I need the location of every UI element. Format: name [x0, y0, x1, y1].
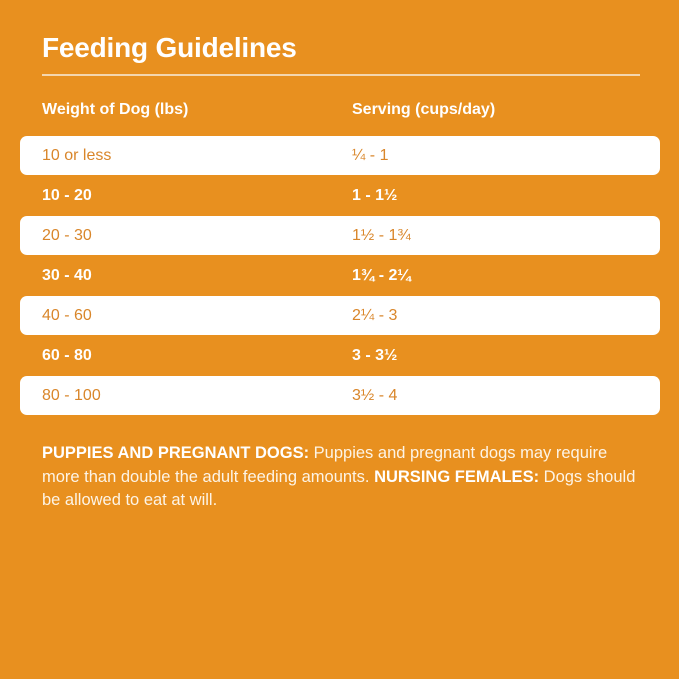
cell-serving: 1 - 1½ — [352, 176, 397, 215]
cell-weight: 10 or less — [42, 136, 111, 175]
feeding-table: 10 or less ¼ - 1 10 - 20 1 - 1½ 20 - 30 … — [0, 136, 679, 416]
table-row: 80 - 100 3½ - 4 — [0, 376, 679, 415]
footnote-text: PUPPIES AND PREGNANT DOGS: Puppies and p… — [42, 442, 642, 513]
cell-serving: 3 - 3½ — [352, 336, 397, 375]
row-background — [20, 136, 660, 175]
cell-serving: ¼ - 1 — [352, 136, 388, 175]
row-background — [20, 216, 660, 255]
column-header-weight: Weight of Dog (lbs) — [42, 101, 188, 119]
table-row: 60 - 80 3 - 3½ — [0, 336, 679, 375]
row-background — [20, 376, 660, 415]
row-background — [20, 296, 660, 335]
cell-weight: 80 - 100 — [42, 376, 101, 415]
table-row: 10 or less ¼ - 1 — [0, 136, 679, 175]
footnote-lead-nursing: NURSING FEMALES: — [374, 468, 539, 486]
table-row: 40 - 60 2¼ - 3 — [0, 296, 679, 335]
table-row: 10 - 20 1 - 1½ — [0, 176, 679, 215]
cell-serving: 3½ - 4 — [352, 376, 397, 415]
page-title: Feeding Guidelines — [42, 33, 297, 64]
cell-serving: 2¼ - 3 — [352, 296, 397, 335]
cell-weight: 10 - 20 — [42, 176, 92, 215]
cell-serving: 1½ - 1¾ — [352, 216, 411, 255]
footnote-lead-puppies: PUPPIES AND PREGNANT DOGS: — [42, 444, 309, 462]
table-row: 30 - 40 1¾ - 2¼ — [0, 256, 679, 295]
title-divider — [42, 74, 640, 76]
row-background — [20, 176, 660, 215]
table-row: 20 - 30 1½ - 1¾ — [0, 216, 679, 255]
cell-weight: 40 - 60 — [42, 296, 92, 335]
cell-weight: 20 - 30 — [42, 216, 92, 255]
cell-serving: 1¾ - 2¼ — [352, 256, 411, 295]
feeding-guidelines-panel: Feeding Guidelines Weight of Dog (lbs) S… — [0, 0, 679, 679]
table-column-headers: Weight of Dog (lbs) Serving (cups/day) — [0, 101, 679, 123]
column-header-serving: Serving (cups/day) — [352, 101, 495, 119]
cell-weight: 60 - 80 — [42, 336, 92, 375]
cell-weight: 30 - 40 — [42, 256, 92, 295]
row-background — [20, 336, 660, 375]
row-background — [20, 256, 660, 295]
